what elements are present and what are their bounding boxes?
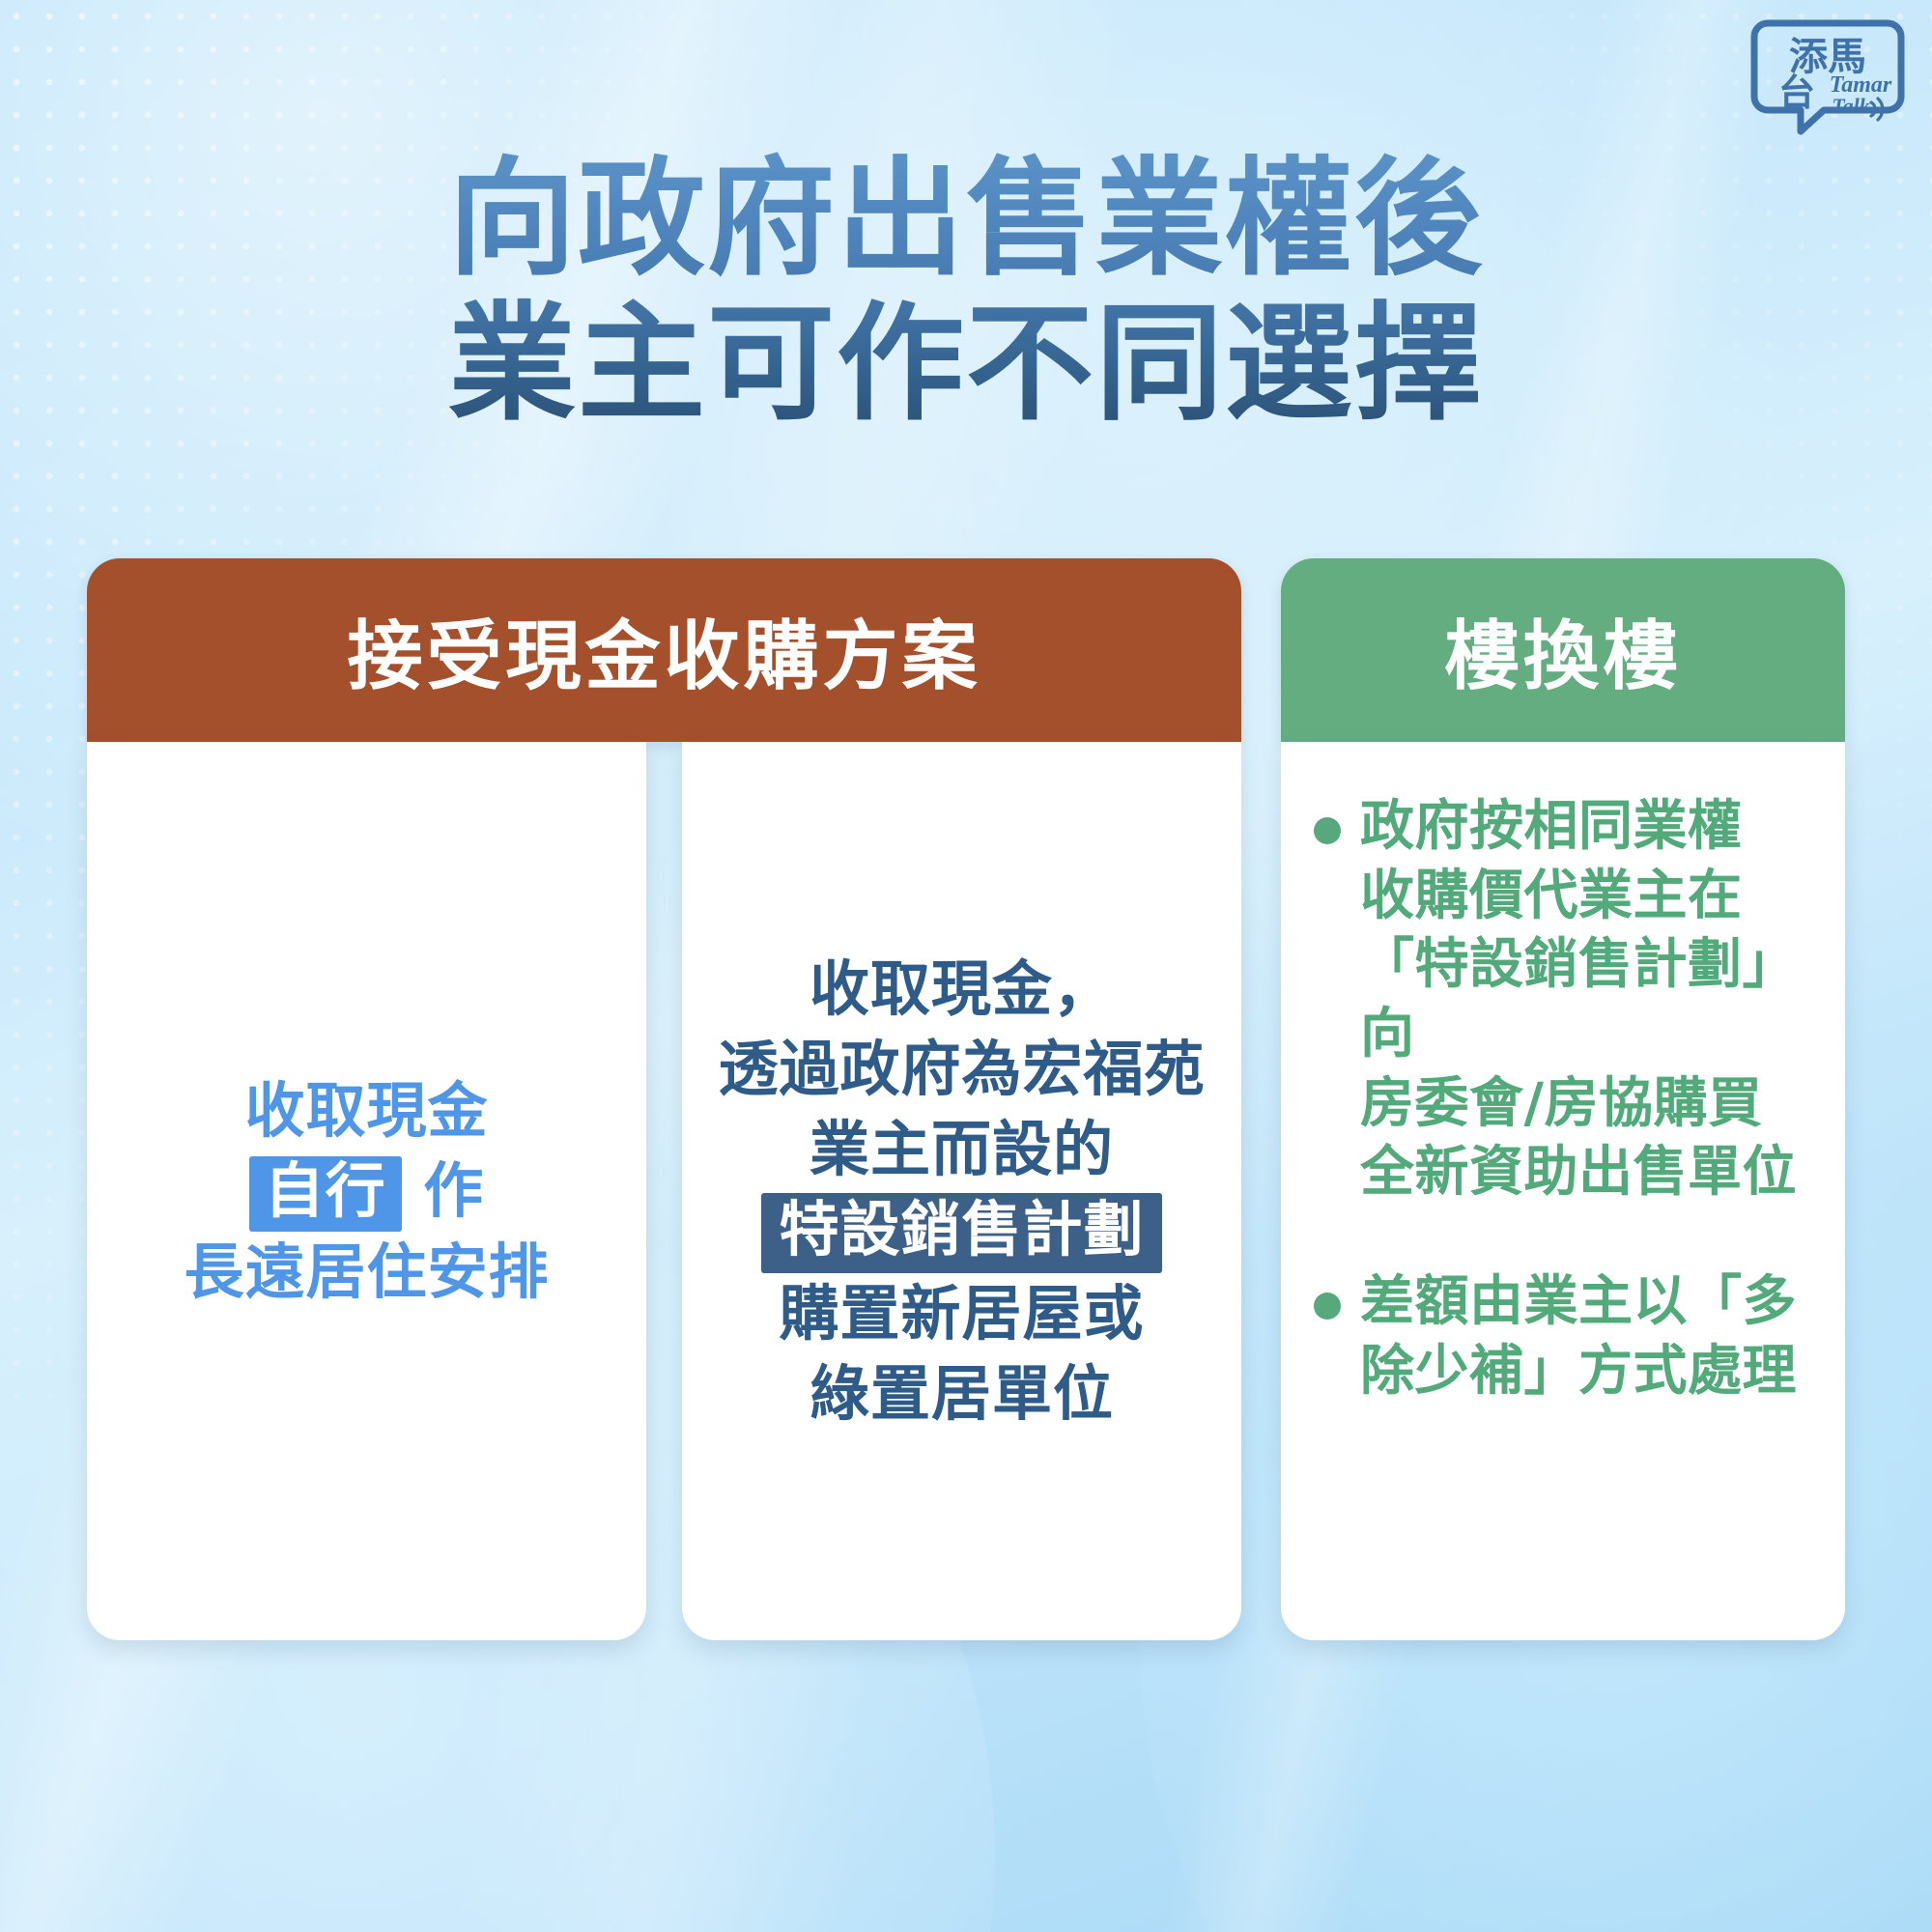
title-line-1: 向政府出售業權後 [0,147,1932,292]
logo-cn-text-2: 台 [1778,71,1815,114]
highlight-chip-self: 自行 [249,1156,402,1232]
flat-for-flat-bullet-list: 政府按相同業權 收購價代業主在 「特設銷售計劃」向 房委會/房協購買 全新資助出… [1314,792,1816,1406]
cash-panel-a-line-3: 長遠居住安排 [184,1232,549,1312]
flat-for-flat-panels: 政府按相同業權 收購價代業主在 「特設銷售計劃」向 房委會/房協購買 全新資助出… [1281,742,1845,1640]
cash-panel-b-line-2: 透過政府為宏福苑 [718,1029,1205,1109]
cash-option-panel-special-sale: 收取現金， 透過政府為宏福苑 業主而設的 特設銷售計劃 購置新居屋或 綠置居單位 [682,742,1241,1640]
cash-option-group: 接受現金收購方案 收取現金 自行 作 長遠居住安排 收取現金， 透過政府為宏福苑… [87,558,1241,1640]
cash-panel-b-text: 收取現金， 透過政府為宏福苑 業主而設的 特設銷售計劃 購置新居屋或 綠置居單位 [718,949,1205,1434]
flat-for-flat-header: 樓換樓 [1281,558,1845,742]
cash-panel-a-text: 收取現金 自行 作 長遠居住安排 [184,1070,549,1312]
cash-panel-b-chip-line: 特設銷售計劃 [718,1189,1205,1272]
list-item: 差額由業主以「多 除少補」方式處理 [1314,1267,1816,1406]
bullet-1-line-4: 房委會/房協購買 [1360,1069,1816,1139]
tamar-talk-logo: 添馬 台 Tamar Talk [1743,14,1905,137]
bullet-dot-icon [1314,817,1341,844]
bullet-dot-icon [1314,1293,1341,1320]
bullet-2-text: 差額由業主以「多 除少補」方式處理 [1360,1267,1797,1406]
cash-panel-b-line-1: 收取現金， [718,949,1205,1029]
cash-panel-b-line-4: 購置新居屋或 [718,1273,1205,1353]
bullet-1-line-1: 政府按相同業權 [1360,792,1816,862]
page-title: 向政府出售業權後 業主可作不同選擇 [0,147,1932,438]
cash-panel-b-line-3: 業主而設的 [718,1109,1205,1189]
flat-for-flat-panel: 政府按相同業權 收購價代業主在 「特設銷售計劃」向 房委會/房協購買 全新資助出… [1281,742,1845,1640]
cash-panel-a-line-2: 自行 作 [184,1151,549,1232]
options-card-row: 接受現金收購方案 收取現金 自行 作 長遠居住安排 收取現金， 透過政府為宏福苑… [87,558,1845,1640]
cash-option-panel-self-arrangement: 收取現金 自行 作 長遠居住安排 [87,742,646,1640]
bullet-2-line-1: 差額由業主以「多 [1360,1267,1797,1337]
infographic-canvas: 添馬 台 Tamar Talk 向政府出售業權後 業主可作不同選擇 接受現金收購… [0,0,1932,1932]
highlight-chip-special-sale-scheme: 特設銷售計劃 [761,1193,1161,1272]
logo-en-bottom: Talk [1832,94,1870,118]
bullet-1-line-3: 「特設銷售計劃」向 [1360,930,1816,1068]
title-line-2: 業主可作不同選擇 [0,292,1932,437]
bullet-1-text: 政府按相同業權 收購價代業主在 「特設銷售計劃」向 房委會/房協購買 全新資助出… [1360,792,1816,1207]
flat-for-flat-header-label: 樓換樓 [1444,596,1682,704]
cash-option-header: 接受現金收購方案 [87,558,1241,742]
cash-option-header-label: 接受現金收購方案 [347,596,980,704]
flat-for-flat-option-group: 樓換樓 政府按相同業權 收購價代業主在 「特設銷售計劃」向 房委會/房協購買 全… [1281,558,1845,1640]
cash-panel-b-line-5: 綠置居單位 [718,1353,1205,1434]
cash-option-panels: 收取現金 自行 作 長遠居住安排 收取現金， 透過政府為宏福苑 業主而設的 特設… [87,742,1241,1640]
bullet-2-line-2: 除少補」方式處理 [1360,1337,1797,1406]
bullet-1-line-5: 全新資助出售單位 [1360,1138,1816,1207]
bullet-1-line-2: 收購價代業主在 [1360,862,1816,931]
cash-panel-a-line-2-suffix: 作 [423,1155,484,1226]
list-item: 政府按相同業權 收購價代業主在 「特設銷售計劃」向 房委會/房協購買 全新資助出… [1314,792,1816,1207]
cash-panel-a-line-1: 收取現金 [184,1070,549,1151]
